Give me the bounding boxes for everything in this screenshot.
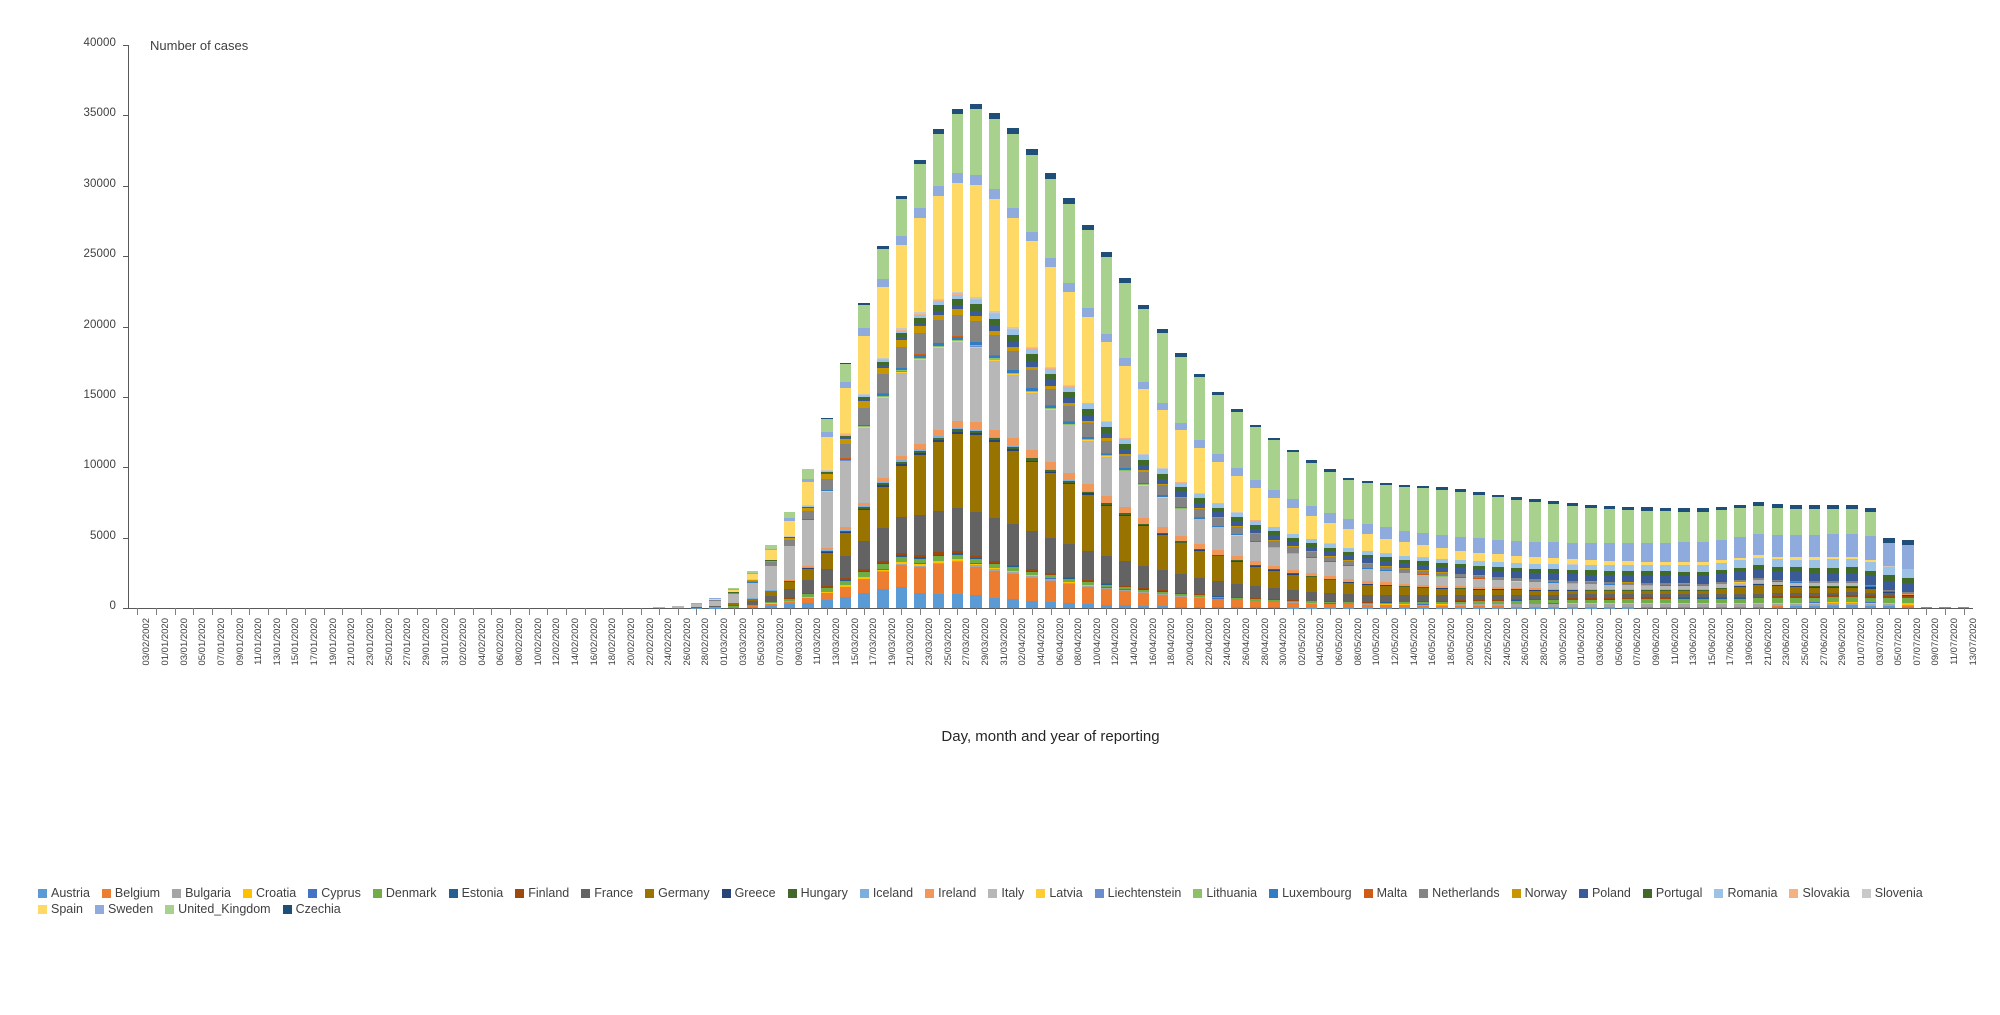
bar-segment-poland <box>1865 576 1877 585</box>
bar-segment-sweden <box>1678 542 1690 561</box>
legend-item-belgium[interactable]: Belgium <box>102 885 160 901</box>
x-axis-tick-label: 17/06/2020 <box>1725 618 1736 666</box>
legend-swatch-icon <box>95 905 104 914</box>
bar-segment-italy <box>802 520 814 565</box>
bar-segment-france <box>1138 566 1150 589</box>
x-axis-tick-label: 17/01/2020 <box>309 618 320 666</box>
bar-segment-sweden <box>1827 534 1839 557</box>
x-axis-tick-label: 02/05/2020 <box>1297 618 1308 666</box>
bar-segment-france <box>1101 556 1113 583</box>
bar-segment-italy <box>1250 542 1262 561</box>
x-axis-tick-label: 01/06/2020 <box>1576 618 1587 666</box>
legend-swatch-icon <box>1579 889 1588 898</box>
x-axis-tick-label: 05/06/2020 <box>1614 618 1625 666</box>
legend-item-norway[interactable]: Norway <box>1512 885 1567 901</box>
bar-segment-sweden <box>896 236 908 245</box>
bar-segment-italy <box>1175 509 1187 536</box>
bar-segment-spain <box>933 196 945 299</box>
bar-segment-united_kingdom <box>1678 512 1690 543</box>
y-axis-tick-label: 35000 <box>0 107 116 119</box>
stacked-bar <box>896 196 908 608</box>
bar-segment-sweden <box>1343 519 1355 529</box>
legend-item-iceland[interactable]: Iceland <box>860 885 913 901</box>
bar-segment-italy <box>1157 498 1169 528</box>
legend-item-greece[interactable]: Greece <box>722 885 776 901</box>
bar-segment-united_kingdom <box>1007 134 1019 209</box>
x-axis-tick-label: 10/02/2020 <box>533 618 544 666</box>
bar-segment-united_kingdom <box>1809 509 1821 535</box>
x-axis-title: Day, month and year of reporting <box>128 728 1973 745</box>
bar-segment-romania <box>1716 563 1728 570</box>
legend-item-croatia[interactable]: Croatia <box>243 885 296 901</box>
x-axis-tick <box>603 608 604 615</box>
x-axis-tick <box>883 608 884 615</box>
x-axis-tick <box>1144 608 1145 615</box>
bar-segment-united_kingdom <box>1026 155 1038 232</box>
bar-segment-germany <box>802 569 814 580</box>
legend-label: Iceland <box>873 885 913 901</box>
x-axis-tick <box>1796 608 1797 615</box>
legend-label: Greece <box>735 885 776 901</box>
stacked-bar <box>1157 329 1169 608</box>
legend-label: Romania <box>1727 885 1777 901</box>
x-axis-tick-label: 12/05/2020 <box>1390 618 1401 666</box>
bar-segment-germany <box>1362 585 1374 595</box>
bar-segment-spain <box>1287 508 1299 534</box>
stacked-bar <box>1902 540 1914 608</box>
stacked-bar <box>1250 424 1262 608</box>
x-axis-tick-label: 20/04/2020 <box>1185 618 1196 666</box>
legend-swatch-icon <box>373 889 382 898</box>
bar-segment-france <box>1082 551 1094 581</box>
legend-label: Germany <box>658 885 709 901</box>
bar-segment-germany <box>989 442 1001 518</box>
bar-segment-spain <box>952 183 964 292</box>
x-axis-tick-label: 19/01/2020 <box>328 618 339 666</box>
x-axis-tick <box>268 608 269 615</box>
x-axis-tick <box>641 608 642 615</box>
bar-segment-united_kingdom <box>1641 511 1653 543</box>
legend-swatch-icon <box>722 889 731 898</box>
legend-swatch-icon <box>1862 889 1871 898</box>
stacked-bar <box>1772 504 1784 608</box>
bar-segment-germany <box>1175 543 1187 574</box>
bar-segment-sweden <box>1436 535 1448 548</box>
stacked-bar <box>1194 374 1206 608</box>
x-axis-tick-label: 11/06/2020 <box>1670 618 1681 665</box>
bar-segment-italy <box>1473 579 1485 586</box>
bar-segment-united_kingdom <box>952 114 964 173</box>
stacked-bar <box>1809 505 1821 608</box>
bar-segment-united_kingdom <box>1753 506 1765 534</box>
x-axis-tick-label: 12/04/2020 <box>1110 618 1121 666</box>
bar-segment-united_kingdom <box>1790 509 1802 536</box>
y-axis-tick-label: 15000 <box>0 389 116 401</box>
x-axis-tick <box>305 608 306 615</box>
legend-item-romania[interactable]: Romania <box>1714 885 1777 901</box>
bar-segment-netherlands <box>933 320 945 342</box>
x-axis-tick-label: 17/03/2020 <box>868 618 879 666</box>
stacked-bar <box>784 512 796 608</box>
legend-label: Estonia <box>462 885 504 901</box>
bar-segment-austria <box>952 594 964 608</box>
x-axis-tick <box>1759 608 1760 615</box>
bar-segment-sweden <box>1734 537 1746 558</box>
legend-item-bulgaria[interactable]: Bulgaria <box>172 885 231 901</box>
x-axis-tick <box>1815 608 1816 615</box>
legend-item-latvia[interactable]: Latvia <box>1036 885 1082 901</box>
bar-segment-united_kingdom <box>1231 412 1243 468</box>
bar-segment-spain <box>1362 534 1374 551</box>
bar-segment-netherlands <box>896 347 908 368</box>
bar-segment-united_kingdom <box>1734 508 1746 537</box>
bar-segment-united_kingdom <box>1287 452 1299 498</box>
bar-segment-netherlands <box>1212 518 1224 526</box>
x-axis-tick-label: 19/06/2020 <box>1744 618 1755 666</box>
bar-segment-austria <box>858 593 870 608</box>
x-axis-tick-label: 01/03/2020 <box>719 618 730 666</box>
y-axis-tick-label: 0 <box>0 600 116 612</box>
bar-segment-poland <box>1809 573 1821 581</box>
legend-item-cyprus[interactable]: Cyprus <box>308 885 361 901</box>
stacked-bar <box>1827 505 1839 608</box>
legend-item-liechtenstein[interactable]: Liechtenstein <box>1095 885 1182 901</box>
x-axis-tick-label: 04/05/2020 <box>1315 618 1326 666</box>
x-axis-tick-label: 28/02/2020 <box>700 618 711 666</box>
bar-segment-sweden <box>1063 283 1075 292</box>
x-axis-tick <box>864 608 865 615</box>
bar-segment-poland <box>1641 576 1653 583</box>
bar-segment-spain <box>1157 410 1169 468</box>
x-axis-tick <box>1367 608 1368 615</box>
x-axis-tick-label: 12/02/2020 <box>551 618 562 666</box>
legend-swatch-icon <box>1789 889 1798 898</box>
bar-segment-united_kingdom <box>1622 510 1634 543</box>
bar-segment-spain <box>821 437 833 470</box>
x-axis-tick-label: 02/02/2020 <box>458 618 469 666</box>
x-axis-tick-label: 29/03/2020 <box>980 618 991 666</box>
legend-item-finland[interactable]: Finland <box>515 885 569 901</box>
bar-segment-france <box>1231 584 1243 597</box>
bar-segment-portugal <box>1026 354 1038 361</box>
x-axis-tick-label: 22/05/2020 <box>1483 618 1494 666</box>
x-axis-title-text: Day, month and year of reporting <box>941 728 1159 745</box>
legend-swatch-icon <box>165 905 174 914</box>
bar-segment-france <box>952 508 964 551</box>
bar-segment-italy <box>1045 410 1057 462</box>
bar-segment-united_kingdom <box>821 419 833 432</box>
bar-segment-austria <box>1026 601 1038 608</box>
bar-segment-italy <box>1324 562 1336 576</box>
bar-segment-ireland <box>1026 450 1038 458</box>
bar-segment-sweden <box>1250 480 1262 488</box>
bar-segment-italy <box>1436 577 1448 586</box>
x-axis-tick <box>1405 608 1406 615</box>
bar-segment-united_kingdom <box>1697 512 1709 542</box>
stacked-bar <box>1548 501 1560 608</box>
bar-segment-france <box>914 515 926 554</box>
bar-segment-italy <box>1063 425 1075 473</box>
bar-segment-romania <box>1846 559 1858 567</box>
legend-item-poland[interactable]: Poland <box>1579 885 1631 901</box>
stacked-bar <box>1268 437 1280 608</box>
bar-segment-sweden <box>1846 534 1858 557</box>
bar-segment-spain <box>1138 389 1150 454</box>
bar-segment-united_kingdom <box>1846 509 1858 534</box>
x-axis-tick-label: 19/03/2020 <box>887 618 898 666</box>
x-axis-tick-label: 13/06/2020 <box>1688 618 1699 666</box>
bar-segment-netherlands <box>989 335 1001 355</box>
legend-item-united_kingdom[interactable]: United_Kingdom <box>165 901 270 917</box>
bar-segment-spain <box>1324 523 1336 544</box>
legend-item-czechia[interactable]: Czechia <box>283 901 341 917</box>
bar-segment-poland <box>1827 573 1839 582</box>
bar-segment-ireland <box>1082 484 1094 491</box>
bar-segment-united_kingdom <box>1473 495 1485 539</box>
x-axis-tick-label: 26/02/2020 <box>682 618 693 666</box>
x-axis-tick-label: 14/04/2020 <box>1129 618 1140 666</box>
bar-segment-romania <box>1883 567 1895 576</box>
stacked-bar <box>1865 508 1877 608</box>
x-axis-tick <box>566 608 567 615</box>
legend-item-sweden[interactable]: Sweden <box>95 901 153 917</box>
x-axis-tick <box>1721 608 1722 615</box>
legend-swatch-icon <box>308 889 317 898</box>
plot-area: Number of cases 050001000015000200002500… <box>0 0 2000 640</box>
legend-item-malta[interactable]: Malta <box>1364 885 1408 901</box>
bar-segment-italy <box>933 348 945 430</box>
bar-segment-germany <box>933 442 945 511</box>
bar-segment-france <box>1212 581 1224 596</box>
x-axis-tick <box>1777 608 1778 615</box>
legend-swatch-icon <box>1714 889 1723 898</box>
legend-item-spain[interactable]: Spain <box>38 901 83 917</box>
bar-segment-italy <box>1007 375 1019 438</box>
bar-segment-spain <box>1231 476 1243 513</box>
bar-segment-sweden <box>1324 513 1336 523</box>
legend-swatch-icon <box>172 889 181 898</box>
x-axis-tick <box>1889 608 1890 615</box>
stacked-bar <box>1231 409 1243 608</box>
stacked-bar <box>728 588 740 608</box>
legend-item-netherlands[interactable]: Netherlands <box>1419 885 1499 901</box>
x-axis-tick <box>734 608 735 615</box>
bar-segment-germany <box>1007 451 1019 524</box>
legend-item-lithuania[interactable]: Lithuania <box>1193 885 1257 901</box>
bar-segment-sweden <box>1753 534 1765 555</box>
legend-item-austria[interactable]: Austria <box>38 885 90 901</box>
bar-segment-sweden <box>1716 540 1728 560</box>
bar-segment-sweden <box>1287 499 1299 508</box>
x-axis-tick-label: 25/03/2020 <box>943 618 954 666</box>
bar-segment-sweden <box>1809 535 1821 557</box>
y-axis-tick-label: 20000 <box>0 319 116 331</box>
bar-segment-italy <box>1306 558 1318 573</box>
x-axis-tick-label: 18/02/2020 <box>607 618 618 666</box>
legend-label: Ireland <box>938 885 976 901</box>
bar-segment-spain <box>1455 551 1467 560</box>
stacked-bar <box>1604 506 1616 608</box>
bar-segment-belgium <box>1212 599 1224 607</box>
bar-segment-austria <box>821 600 833 608</box>
x-axis-tick <box>286 608 287 615</box>
legend-item-italy[interactable]: Italy <box>988 885 1024 901</box>
x-axis-tick-label: 08/04/2020 <box>1073 618 1084 666</box>
x-axis-tick-label: 05/03/2020 <box>756 618 767 666</box>
stacked-bar <box>1622 507 1634 608</box>
stacked-bar <box>1324 469 1336 608</box>
bar-segment-austria <box>896 587 908 608</box>
legend-swatch-icon <box>283 905 292 914</box>
bar-segment-belgium <box>1082 587 1094 604</box>
stacked-bar <box>1101 252 1113 608</box>
bar-segment-united_kingdom <box>1324 472 1336 514</box>
legend-item-ireland[interactable]: Ireland <box>925 885 976 901</box>
bar-segment-spain <box>989 199 1001 312</box>
x-axis-tick <box>1461 608 1462 615</box>
legend-item-slovenia[interactable]: Slovenia <box>1862 885 1923 901</box>
bar-segment-belgium <box>1175 597 1187 607</box>
bar-segment-netherlands <box>821 479 833 490</box>
bar-segment-france <box>896 517 908 554</box>
x-axis-tick <box>1088 608 1089 615</box>
bar-segment-france <box>784 589 796 598</box>
x-axis-tick <box>510 608 511 615</box>
bar-segment-italy <box>1399 573 1411 583</box>
x-axis-tick-label: 22/02/2020 <box>645 618 656 666</box>
x-axis-labels: 03/02/200201/01/202003/01/202005/01/2020… <box>128 618 1973 708</box>
legend-item-germany[interactable]: Germany <box>645 885 709 901</box>
bar-segment-italy <box>821 492 833 548</box>
x-axis-tick-label: 21/03/2020 <box>905 618 916 666</box>
bar-segment-sweden <box>1175 423 1187 431</box>
x-axis-tick <box>1666 608 1667 615</box>
x-axis-tick <box>827 608 828 615</box>
bar-segment-sweden <box>1697 542 1709 562</box>
bar-segment-spain <box>1119 366 1131 438</box>
stacked-bar <box>1306 460 1318 608</box>
x-axis-tick <box>659 608 660 615</box>
legend-item-hungary[interactable]: Hungary <box>788 885 848 901</box>
bar-segment-belgium <box>989 571 1001 598</box>
x-axis-tick-label: 25/01/2020 <box>384 618 395 666</box>
x-axis-ticks <box>128 608 1973 616</box>
bar-segment-germany <box>1119 516 1131 561</box>
bar-segment-poland <box>1902 583 1914 592</box>
x-axis-tick <box>193 608 194 615</box>
bar-segment-sweden <box>970 175 982 185</box>
x-axis-tick-label: 08/02/2020 <box>514 618 525 666</box>
bar-segment-france <box>1045 538 1057 573</box>
stacked-bar <box>1473 492 1485 608</box>
legend-swatch-icon <box>1643 889 1652 898</box>
legend-swatch-icon <box>1419 889 1428 898</box>
bar-segment-italy <box>1194 519 1206 544</box>
bar-segment-united_kingdom <box>1716 510 1728 540</box>
bar-segment-spain <box>1268 498 1280 527</box>
bar-segment-france <box>858 541 870 569</box>
x-axis-tick <box>1516 608 1517 615</box>
bar-segment-spain <box>1063 292 1075 385</box>
x-axis-tick <box>1237 608 1238 615</box>
x-axis-tick-label: 16/02/2020 <box>589 618 600 666</box>
bar-segment-netherlands <box>1063 406 1075 421</box>
bar-segment-romania <box>1697 565 1709 572</box>
bar-segment-france <box>1380 595 1392 602</box>
x-axis-tick <box>324 608 325 615</box>
stacked-bar <box>747 571 759 608</box>
stacked-bar <box>802 469 814 608</box>
bar-segment-united_kingdom <box>1417 488 1429 533</box>
bar-segment-spain <box>765 550 777 560</box>
bar-segment-poland <box>1734 572 1746 580</box>
x-axis-tick <box>249 608 250 615</box>
legend-swatch-icon <box>1364 889 1373 898</box>
stacked-bar <box>1343 477 1355 608</box>
x-axis-tick <box>790 608 791 615</box>
legend-item-slovakia[interactable]: Slovakia <box>1789 885 1849 901</box>
x-axis-tick-label: 26/04/2020 <box>1241 618 1252 666</box>
legend-item-france[interactable]: France <box>581 885 633 901</box>
bar-segment-sweden <box>1641 543 1653 562</box>
x-axis-tick <box>1628 608 1629 615</box>
legend-swatch-icon <box>38 905 47 914</box>
bar-segment-united_kingdom <box>1604 509 1616 543</box>
bar-segment-sweden <box>1473 538 1485 552</box>
legend-item-denmark[interactable]: Denmark <box>373 885 437 901</box>
legend-label: Lithuania <box>1206 885 1257 901</box>
bar-segment-germany <box>1753 585 1765 594</box>
bar-segment-france <box>1362 595 1374 602</box>
bar-segment-united_kingdom <box>1306 463 1318 507</box>
bar-segment-france <box>1324 593 1336 601</box>
bar-segment-sweden <box>1212 454 1224 462</box>
x-axis-tick-label: 11/01/2020 <box>253 618 264 665</box>
bar-segment-spain <box>1082 317 1094 403</box>
bar-segment-spain <box>1212 462 1224 503</box>
bar-segment-united_kingdom <box>970 109 982 174</box>
x-axis-tick <box>491 608 492 615</box>
x-axis-tick-label: 07/03/2020 <box>775 618 786 666</box>
legend-item-portugal[interactable]: Portugal <box>1643 885 1703 901</box>
legend-swatch-icon <box>1036 889 1045 898</box>
bar-segment-italy <box>1212 527 1224 550</box>
stacked-bar <box>1082 224 1094 608</box>
bar-segment-germany <box>877 487 889 528</box>
bar-segment-united_kingdom <box>1660 511 1672 543</box>
stacked-bar <box>1883 538 1895 608</box>
bar-segment-germany <box>1157 535 1169 570</box>
bar-segment-united_kingdom <box>1511 500 1523 541</box>
legend-label: Luxembourg <box>1282 885 1352 901</box>
x-axis-tick-label: 13/01/2020 <box>272 618 283 666</box>
x-axis-tick-label: 02/04/2020 <box>1017 618 1028 666</box>
x-axis-tick <box>939 608 940 615</box>
bar-segment-sweden <box>1529 542 1541 558</box>
x-axis-tick <box>436 608 437 615</box>
bar-segment-ireland <box>1007 438 1019 446</box>
legend-item-estonia[interactable]: Estonia <box>449 885 504 901</box>
x-axis-tick <box>175 608 176 615</box>
stacked-bar <box>765 544 777 608</box>
bar-segment-germany <box>1063 484 1075 545</box>
bar-segment-spain <box>1492 554 1504 562</box>
legend-item-luxembourg[interactable]: Luxembourg <box>1269 885 1352 901</box>
x-axis-tick <box>1106 608 1107 615</box>
bar-segment-france <box>1175 574 1187 592</box>
x-axis-tick <box>1181 608 1182 615</box>
bar-segment-netherlands <box>914 333 926 355</box>
